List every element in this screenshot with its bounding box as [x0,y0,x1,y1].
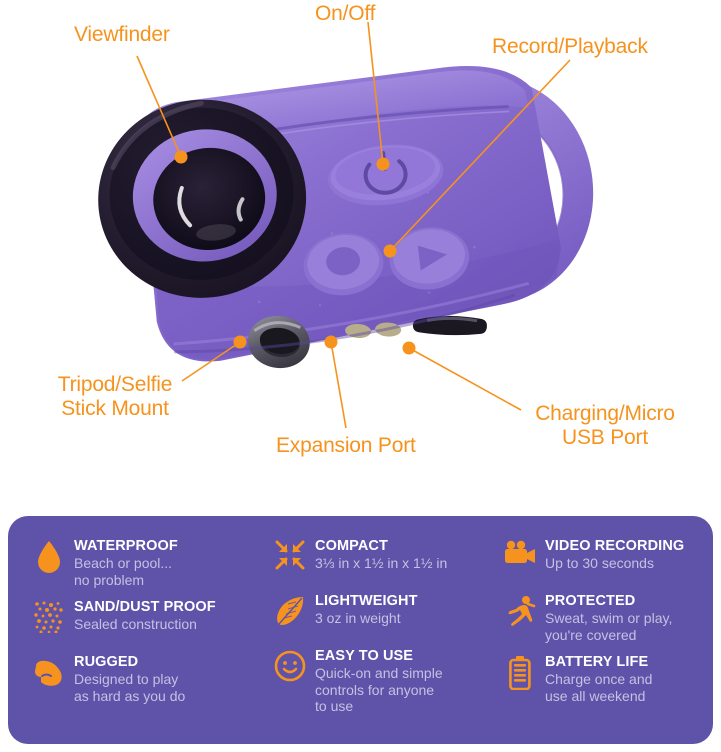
feature-protected: PROTECTED Sweat, swim or play, you're co… [501,593,713,643]
feature-desc: Sealed construction [74,616,216,633]
feather-icon [271,593,309,637]
callout-dot-on-off [377,158,390,171]
feature-desc: Beach or pool... no problem [74,555,178,588]
battery-icon [501,654,539,698]
feature-desc: 3⅓ in x 1½ in x 1½ in [315,555,447,572]
feature-desc: 3 oz in weight [315,610,418,627]
feature-battery-life: BATTERY LIFE Charge once and use all wee… [501,654,713,704]
feature-title: COMPACT [315,538,447,555]
feature-title: PROTECTED [545,593,672,610]
feature-title: EASY TO USE [315,648,443,665]
callout-dot-usb-port [403,342,416,355]
feature-lightweight: LIGHTWEIGHT 3 oz in weight [271,593,501,637]
feature-title: RUGGED [74,654,185,671]
callout-label-record-playback: Record/Playback [492,35,648,59]
feature-title: VIDEO RECORDING [545,538,684,555]
feature-video-recording: VIDEO RECORDING Up to 30 seconds [501,538,713,582]
video-camera-icon [501,538,539,582]
feature-column-2: COMPACT 3⅓ in x 1½ in x 1½ in [263,538,501,744]
feature-title: BATTERY LIFE [545,654,652,671]
feature-easy-to-use: EASY TO USE Quick-on and simple controls… [271,648,501,715]
feature-title: LIGHTWEIGHT [315,593,418,610]
compress-arrows-icon [271,538,309,582]
water-drop-icon [30,538,68,582]
feature-panel: WATERPROOF Beach or pool... no problem [8,516,713,744]
feature-title: WATERPROOF [74,538,178,555]
feature-waterproof: WATERPROOF Beach or pool... no problem [30,538,263,588]
callout-dot-tripod-mount [234,336,247,349]
callout-label-tripod-mount: Tripod/Selfie Stick Mount [40,373,190,421]
feature-column-1: WATERPROOF Beach or pool... no problem [8,538,263,744]
callout-label-on-off: On/Off [315,2,375,26]
feature-rugged: RUGGED Designed to play as hard as you d… [30,654,263,704]
callout-label-expansion-port: Expansion Port [276,434,416,458]
feature-desc: Up to 30 seconds [545,555,684,572]
feature-desc: Designed to play as hard as you do [74,671,185,704]
feature-desc: Quick-on and simple controls for anyone … [315,665,443,715]
runner-icon [501,593,539,637]
feature-sand-dust-proof: SAND/DUST PROOF Sealed construction [30,599,263,643]
feature-compact: COMPACT 3⅓ in x 1½ in x 1½ in [271,538,501,582]
callout-label-usb-port: Charging/Micro USB Port [520,402,690,450]
callout-dot-record-playback [384,245,397,258]
product-photo-area: Viewfinder On/Off Record/Playback Tripod… [0,0,721,510]
feature-desc: Sweat, swim or play, you're covered [545,610,672,643]
bicep-icon [30,654,68,698]
callout-label-viewfinder: Viewfinder [74,23,170,47]
smiley-icon [271,648,309,692]
feature-column-3: VIDEO RECORDING Up to 30 seconds PROTECT… [501,538,713,744]
callout-dot-expansion-port [325,336,338,349]
dust-dots-icon [30,599,68,643]
feature-desc: Charge once and use all weekend [545,671,652,704]
callout-dot-viewfinder [175,151,188,164]
feature-title: SAND/DUST PROOF [74,599,216,616]
